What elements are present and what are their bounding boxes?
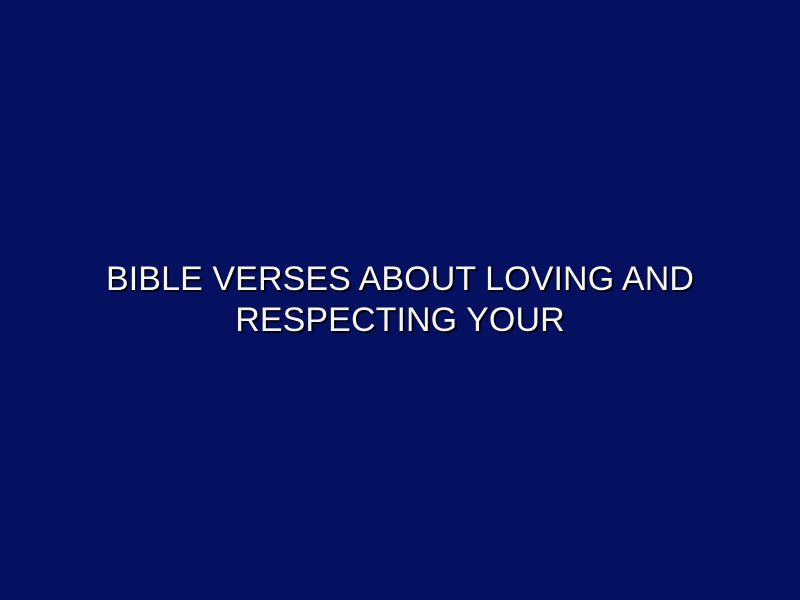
title-block: BIBLE VERSES ABOUT LOVING AND RESPECTING…: [0, 0, 800, 600]
title-card: BIBLE VERSES ABOUT LOVING AND RESPECTING…: [0, 0, 800, 600]
page-title: BIBLE VERSES ABOUT LOVING AND RESPECTING…: [90, 259, 710, 341]
